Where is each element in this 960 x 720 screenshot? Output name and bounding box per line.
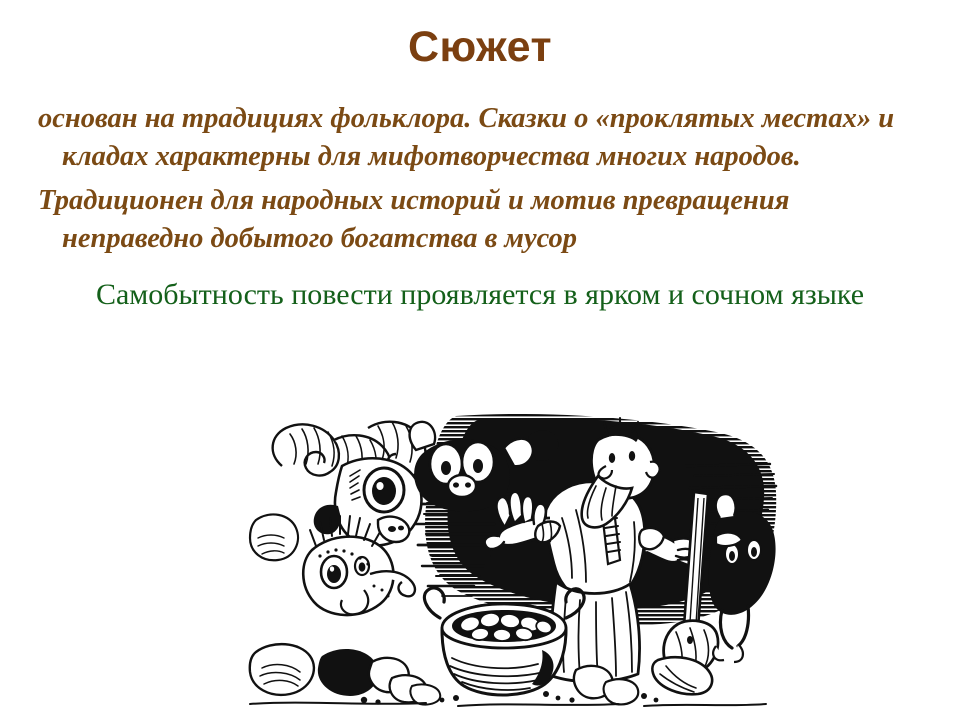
presentation-slide: Сюжет основан на традициях фольклора. Ск… <box>0 0 960 720</box>
page-title: Сюжет <box>0 22 960 72</box>
body-paragraph-2: Традиционен для народных историй и мотив… <box>0 182 960 258</box>
slide-body-text: основан на традициях фольклора. Сказки о… <box>0 100 960 318</box>
body-highlight-text: Самобытность повести проявляется в ярком… <box>0 272 960 318</box>
body-paragraph-1: основан на традициях фольклора. Сказки о… <box>0 100 960 176</box>
folk-tale-engraving-image <box>246 414 778 710</box>
